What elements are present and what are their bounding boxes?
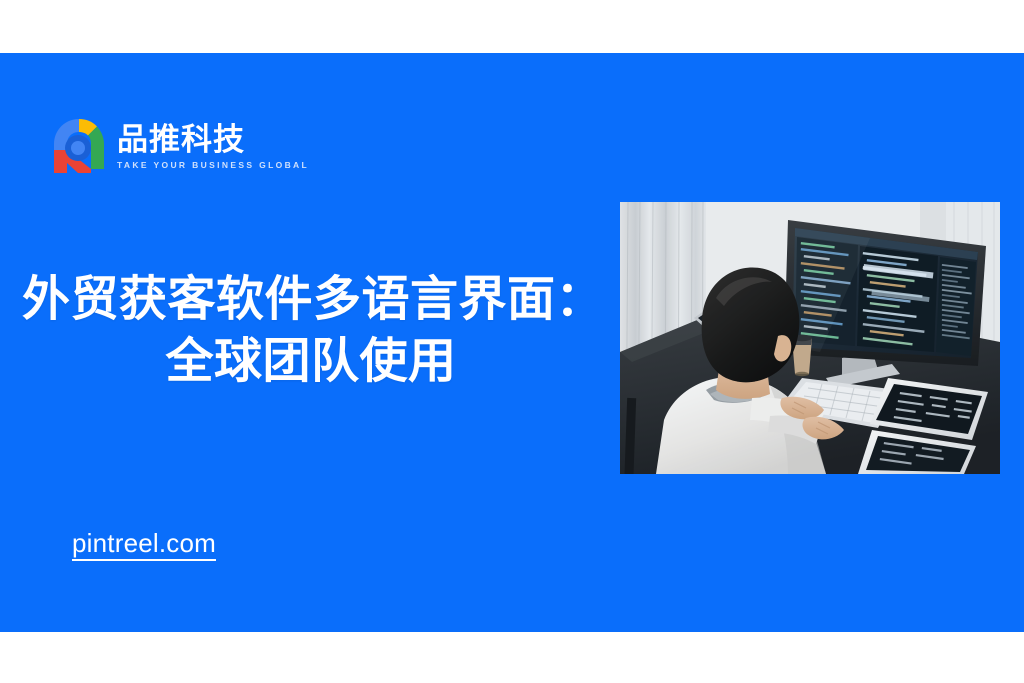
brand-name: 品推科技 xyxy=(117,124,309,157)
page-title-line-1: 外贸获客软件多语言界面： xyxy=(22,268,600,330)
brand-tagline: TAKE YOUR BUSINESS GLOBAL xyxy=(117,160,309,170)
brand-logo-lockup[interactable]: 品推科技 TAKE YOUR BUSINESS GLOBAL xyxy=(50,115,309,177)
page-title-line-2: 全球团队使用 xyxy=(22,330,600,392)
hero-photo-illustration xyxy=(620,202,1000,474)
site-url-link[interactable]: pintreel.com xyxy=(72,529,216,561)
page-title: 外贸获客软件多语言界面： 全球团队使用 xyxy=(22,268,600,393)
brand-text-block: 品推科技 TAKE YOUR BUSINESS GLOBAL xyxy=(117,122,309,171)
hero-photo xyxy=(620,202,1000,474)
pa-monogram-logo-icon xyxy=(50,115,108,177)
slide-canvas: 品推科技 TAKE YOUR BUSINESS GLOBAL 外贸获客软件多语言… xyxy=(0,0,1024,683)
blue-slide-background: 品推科技 TAKE YOUR BUSINESS GLOBAL 外贸获客软件多语言… xyxy=(0,53,1024,632)
